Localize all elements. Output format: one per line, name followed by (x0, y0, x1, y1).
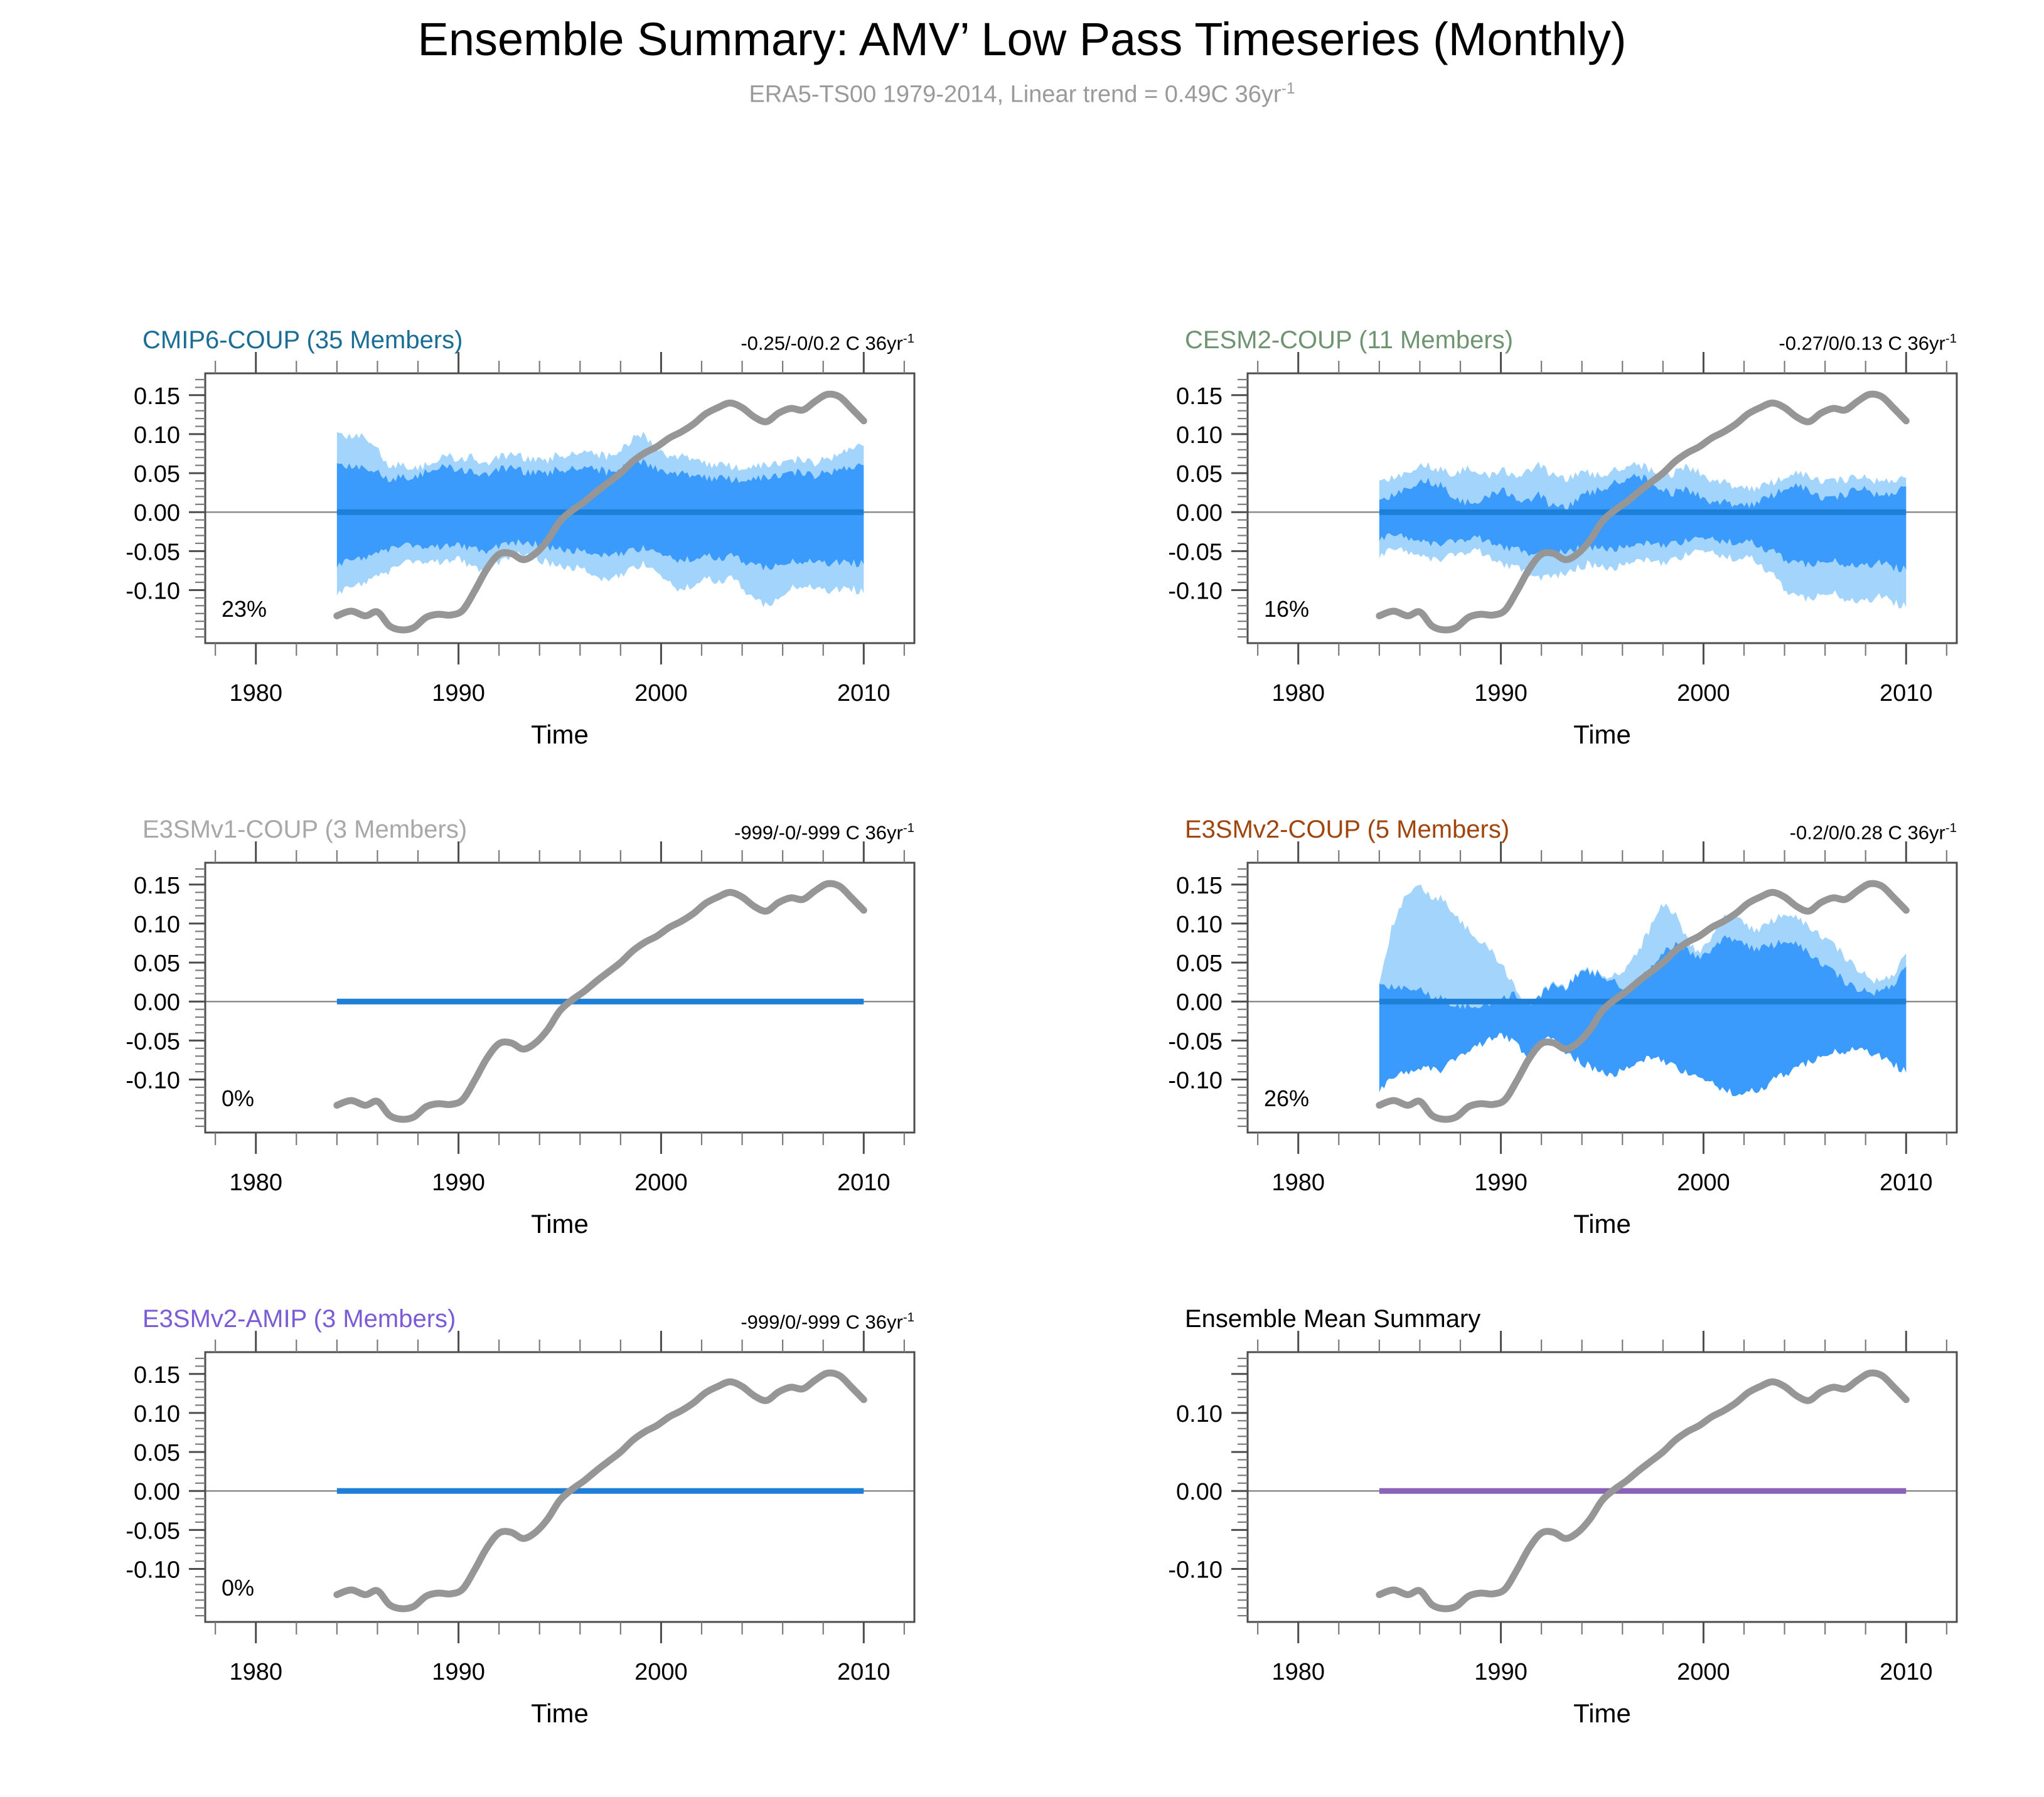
y-tick-label: 0.10 (1176, 422, 1223, 449)
x-tick-label: 1990 (432, 1170, 485, 1196)
x-tick-label: 1990 (432, 1659, 485, 1685)
plot-area-e3smv2-coup: 0.150.100.050.00-0.05-0.1019801990200020… (1138, 816, 1972, 1167)
panel-trend-label-e3smv2-coup: -0.2/0/0.28 C 36yr-1 (1138, 821, 1957, 844)
x-tick-label: 2000 (1677, 680, 1730, 707)
figure-title: Ensemble Summary: AMV’ Low Pass Timeseri… (0, 13, 2044, 66)
percent-annotation-e3smv2-coup: 26% (1264, 1085, 1309, 1111)
x-axis-label: Time (1573, 1209, 1631, 1239)
x-tick-label: 1980 (1271, 680, 1325, 707)
y-tick-label: 0.10 (1176, 1401, 1223, 1427)
plot-clip-right (1957, 1305, 1972, 1656)
y-tick-label: -0.05 (126, 1028, 180, 1055)
y-tick-label: -0.05 (1168, 1028, 1223, 1055)
x-tick-label: 1990 (1474, 1170, 1528, 1196)
panel-cmip6-coup: CMIP6-COUP (35 Members)-0.25/-0/0.2 C 36… (95, 326, 930, 678)
plot-area-cesm2-coup: 0.150.100.050.00-0.05-0.1019801990200020… (1138, 326, 1972, 678)
plot-clip-bottom (95, 1622, 930, 1656)
y-tick-label: 0.00 (134, 500, 180, 526)
x-tick-label: 1990 (1474, 680, 1528, 707)
x-tick-label: 2000 (634, 680, 688, 707)
x-tick-label: 2010 (837, 1659, 891, 1685)
y-tick-label: -0.05 (126, 539, 180, 565)
trend-range-text: -0.27/0/0.13 C 36yr (1779, 332, 1945, 354)
plot-clip-bottom (95, 643, 930, 678)
panel-trend-label-e3smv2-amip: -999/0/-999 C 36yr-1 (95, 1310, 914, 1333)
y-tick-label: 0.15 (1176, 873, 1223, 899)
plot-clip-right (914, 816, 930, 1167)
y-tick-label: -0.10 (1168, 578, 1223, 604)
y-tick-label: -0.10 (1168, 1557, 1223, 1583)
plot-clip-bottom (1138, 1622, 1972, 1656)
y-tick-label: 0.15 (134, 873, 180, 899)
y-tick-label: -0.05 (126, 1518, 180, 1544)
panel-trend-label-cmip6-coup: -0.25/-0/0.2 C 36yr-1 (95, 331, 914, 355)
y-tick-label: 0.10 (134, 912, 180, 938)
trend-exponent: -1 (1945, 821, 1957, 835)
x-tick-label: 2000 (634, 1659, 688, 1685)
x-tick-label: 2010 (1880, 680, 1933, 707)
x-axis-label: Time (1573, 1698, 1631, 1728)
trend-exponent: -1 (903, 821, 914, 835)
panel-e3smv2-coup: E3SMv2-COUP (5 Members)-0.2/0/0.28 C 36y… (1138, 816, 1972, 1167)
plot-clip-right (914, 326, 930, 678)
x-axis-label: Time (1573, 720, 1631, 749)
panel-e3smv1-coup: E3SMv1-COUP (3 Members)-999/-0/-999 C 36… (95, 816, 930, 1167)
y-tick-label: 0.10 (1176, 912, 1223, 938)
percent-annotation-e3smv2-amip: 0% (222, 1575, 254, 1601)
panel-title-ensemble-mean-summary: Ensemble Mean Summary (1185, 1305, 1480, 1333)
figure-subtitle-exponent: -1 (1282, 80, 1295, 97)
percent-annotation-e3smv1-coup: 0% (222, 1085, 254, 1111)
x-tick-label: 2000 (634, 1170, 688, 1196)
y-tick-label: -0.10 (1168, 1067, 1223, 1094)
panel-trend-label-e3smv1-coup: -999/-0/-999 C 36yr-1 (95, 821, 914, 844)
percent-annotation-cesm2-coup: 16% (1264, 596, 1309, 622)
plot-frame (1248, 1352, 1957, 1622)
y-tick-label: 0.15 (134, 383, 180, 410)
plot-clip-bottom (1138, 643, 1972, 678)
percent-annotation-cmip6-coup: 23% (222, 596, 267, 622)
x-tick-label: 1980 (1271, 1659, 1325, 1685)
plot-clip-right (1957, 816, 1972, 1167)
y-tick-label: 0.05 (134, 1440, 180, 1466)
trend-exponent: -1 (1945, 331, 1957, 346)
y-tick-label: 0.00 (1176, 500, 1223, 526)
x-tick-label: 1990 (1474, 1659, 1528, 1685)
y-tick-label: 0.05 (134, 951, 180, 977)
trend-exponent: -1 (903, 1310, 914, 1325)
y-tick-label: 0.00 (1176, 1479, 1223, 1505)
figure-subtitle: ERA5-TS00 1979-2014, Linear trend = 0.49… (0, 80, 2044, 109)
y-tick-label: -0.10 (126, 1557, 180, 1583)
plot-frame (205, 863, 914, 1133)
x-tick-label: 1980 (229, 1659, 282, 1685)
y-tick-label: 0.00 (1176, 989, 1223, 1016)
trend-range-text: -999/0/-999 C 36yr (741, 1311, 902, 1333)
x-axis-label: Time (531, 720, 589, 749)
y-tick-label: 0.10 (134, 422, 180, 449)
panel-trend-label-cesm2-coup: -0.27/0/0.13 C 36yr-1 (1138, 331, 1957, 355)
trend-exponent: -1 (903, 331, 914, 346)
plot-frame (205, 1352, 914, 1622)
x-tick-label: 1980 (229, 1170, 282, 1196)
plot-area-ensemble-mean-summary: 0.100.00-0.101980199020002010Time (1138, 1305, 1972, 1656)
plot-area-cmip6-coup: 0.150.100.050.00-0.05-0.1019801990200020… (95, 326, 930, 678)
figure-subtitle-text: ERA5-TS00 1979-2014, Linear trend = 0.49… (749, 82, 1281, 108)
y-tick-label: 0.05 (1176, 461, 1223, 488)
trend-range-text: -999/-0/-999 C 36yr (734, 821, 903, 843)
y-tick-label: 0.10 (134, 1401, 180, 1427)
x-tick-label: 2000 (1677, 1659, 1730, 1685)
y-tick-label: 0.05 (134, 461, 180, 488)
panel-e3smv2-amip: E3SMv2-AMIP (3 Members)-999/0/-999 C 36y… (95, 1305, 930, 1656)
x-axis-label: Time (531, 1698, 589, 1728)
plot-clip-bottom (95, 1133, 930, 1167)
x-axis-label: Time (531, 1209, 589, 1239)
panel-ensemble-mean-summary: Ensemble Mean Summary0.100.00-0.10198019… (1138, 1305, 1972, 1656)
y-tick-label: 0.00 (134, 989, 180, 1016)
x-tick-label: 2010 (837, 1170, 891, 1196)
x-tick-label: 2010 (837, 680, 891, 707)
plot-clip-bottom (1138, 1133, 1972, 1167)
y-tick-label: -0.10 (126, 1067, 180, 1094)
y-tick-label: 0.15 (1176, 383, 1223, 410)
plot-clip-right (1957, 326, 1972, 678)
x-tick-label: 2010 (1880, 1659, 1933, 1685)
trend-range-text: -0.25/-0/0.2 C 36yr (741, 332, 902, 354)
x-tick-label: 2010 (1880, 1170, 1933, 1196)
plot-area-e3smv1-coup: 0.150.100.050.00-0.05-0.1019801990200020… (95, 816, 930, 1167)
y-tick-label: 0.05 (1176, 951, 1223, 977)
x-tick-label: 1980 (1271, 1170, 1325, 1196)
y-tick-label: 0.00 (134, 1479, 180, 1505)
plot-clip-right (914, 1305, 930, 1656)
panel-cesm2-coup: CESM2-COUP (11 Members)-0.27/0/0.13 C 36… (1138, 326, 1972, 678)
trend-range-text: -0.2/0/0.28 C 36yr (1790, 821, 1945, 843)
x-tick-label: 1990 (432, 680, 485, 707)
figure-root: Ensemble Summary: AMV’ Low Pass Timeseri… (0, 0, 2044, 1797)
x-tick-label: 2000 (1677, 1170, 1730, 1196)
y-tick-label: 0.15 (134, 1362, 180, 1389)
y-tick-label: -0.05 (1168, 539, 1223, 565)
x-tick-label: 1980 (229, 680, 282, 707)
y-tick-label: -0.10 (126, 578, 180, 604)
plot-area-e3smv2-amip: 0.150.100.050.00-0.05-0.1019801990200020… (95, 1305, 930, 1656)
